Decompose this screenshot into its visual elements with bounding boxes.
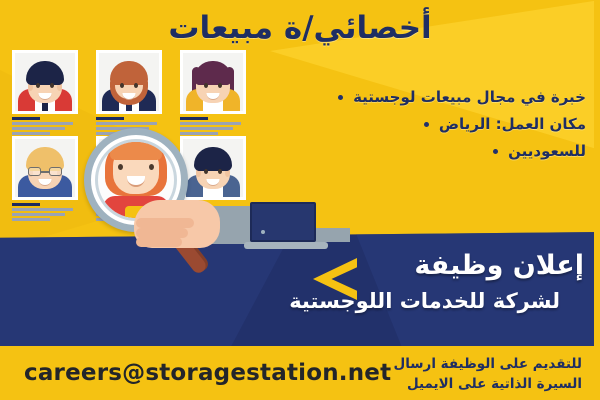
candidate-photo: [180, 136, 246, 200]
candidate-photo: [96, 50, 162, 114]
candidate-card-2: [96, 50, 162, 137]
requirement-text: للسعوديين: [508, 142, 586, 160]
candidate-card-4: [12, 136, 78, 223]
avatar: [183, 53, 243, 111]
banner-headline: إعلان وظيفة: [414, 250, 584, 281]
requirement-text: خبرة في مجال مبيعات لوجستية: [353, 88, 586, 106]
requirement-item-2: مكان العمل: الرياض: [256, 115, 586, 133]
candidate-photo: [12, 50, 78, 114]
apply-line-1: للتقديم على الوظيفة ارسال: [394, 354, 583, 374]
avatar: [15, 139, 75, 197]
bullet-dot-icon: [493, 149, 498, 154]
candidate-info-lines: [12, 203, 78, 221]
bullet-dot-icon: [338, 95, 343, 100]
apply-line-2: السيرة الذاتية على الايميل: [394, 374, 583, 394]
requirements-list: خبرة في مجال مبيعات لوجستية مكان العمل: …: [256, 88, 586, 169]
banner-subline: لشركة للخدمات اللوجستية: [289, 289, 560, 313]
candidate-info-lines: [12, 117, 78, 135]
avatar: [99, 53, 159, 111]
glasses-icon: [27, 167, 63, 176]
avatar: [15, 53, 75, 111]
requirement-item-1: خبرة في مجال مبيعات لوجستية: [256, 88, 586, 106]
page-title: أخصائي/ة مبيعات: [0, 10, 600, 46]
contact-footer: careers@storagestation.net للتقديم على ا…: [0, 346, 600, 400]
laptop-icon: [250, 202, 322, 254]
avatar: [183, 139, 243, 197]
candidate-info-lines: [180, 117, 246, 135]
bullet-dot-icon: [424, 122, 429, 127]
requirement-text: مكان العمل: الرياض: [439, 115, 586, 133]
hand-icon: [126, 196, 246, 266]
candidate-photo: [180, 50, 246, 114]
candidate-card-3: [180, 50, 246, 137]
right-edge-stripe: [594, 0, 600, 400]
job-advertisement-poster: أخصائي/ة مبيعات خبرة في مجال مبيعات لوجس…: [0, 0, 600, 400]
contact-email[interactable]: careers@storagestation.net: [24, 360, 391, 386]
apply-instructions: للتقديم على الوظيفة ارسال السيرة الذاتية…: [394, 354, 583, 395]
candidate-card-1: [12, 50, 78, 137]
requirement-item-3: للسعوديين: [256, 142, 586, 160]
candidate-photo: [12, 136, 78, 200]
